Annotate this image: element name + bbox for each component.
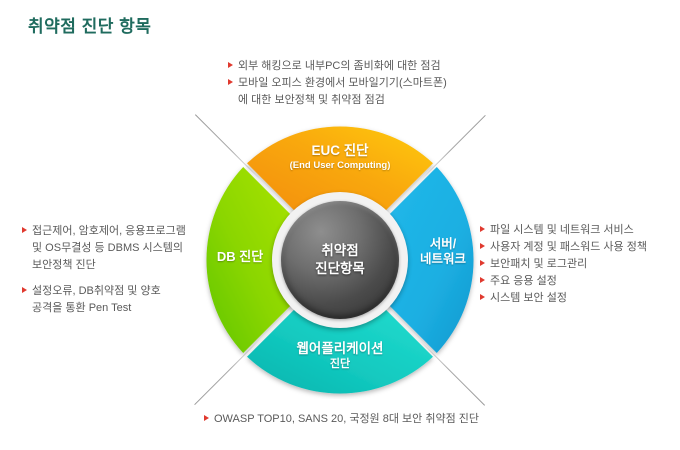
- list-item: 접근제어, 암호제어, 응용프로그램: [22, 223, 186, 239]
- arrow-bullet-icon: [480, 260, 485, 266]
- list-item-continuation: 및 OS무결성 등 DBMS 시스템의: [22, 240, 186, 256]
- hub-label-line2: 진단항목: [315, 260, 365, 278]
- list-item: 외부 해킹으로 내부PC의 좀비화에 대한 점검: [228, 58, 447, 74]
- list-item: 사용자 계정 및 패스워드 사용 정책: [480, 239, 647, 255]
- callout-web-application: OWASP TOP10, SANS 20, 국정원 8대 보안 취약점 진단: [204, 411, 479, 428]
- arrow-bullet-icon: [22, 287, 27, 293]
- donut-hub: 취약점 진단항목: [272, 192, 408, 328]
- arrow-bullet-icon: [480, 277, 485, 283]
- list-item-continuation: 보안정책 진단: [22, 257, 186, 273]
- list-item-text: 설정오류, DB취약점 및 양호: [32, 285, 161, 297]
- list-item-text: 주요 응용 설정: [490, 275, 557, 287]
- list-item-text: 접근제어, 암호제어, 응용프로그램: [32, 225, 186, 237]
- list-item: 시스템 보안 설정: [480, 290, 647, 306]
- arrow-bullet-icon: [22, 227, 27, 233]
- list-item: 모바일 오피스 환경에서 모바일기기(스마트폰): [228, 75, 447, 91]
- list-item-text: OWASP TOP10, SANS 20, 국정원 8대 보안 취약점 진단: [214, 413, 479, 425]
- donut-hub-inner: 취약점 진단항목: [281, 201, 399, 319]
- list-item-continuation: 공격을 통환 Pen Test: [22, 300, 186, 316]
- arrow-bullet-icon: [228, 62, 233, 68]
- list-item: 보안패치 및 로그관리: [480, 256, 647, 272]
- list-item-continuation: 에 대한 보안정책 및 취약점 점검: [228, 92, 447, 108]
- callout-euc-group-2: 모바일 오피스 환경에서 모바일기기(스마트폰) 에 대한 보안정책 및 취약점…: [228, 75, 447, 108]
- list-item-text: 시스템 보안 설정: [490, 292, 567, 304]
- list-item-text: 공격을 통환 Pen Test: [32, 302, 131, 314]
- list-item: 설정오류, DB취약점 및 양호: [22, 283, 186, 299]
- list-item: 주요 응용 설정: [480, 273, 647, 289]
- callout-server-network: 파일 시스템 및 네트워크 서비스 사용자 계정 및 패스워드 사용 정책 보안…: [480, 222, 647, 307]
- arrow-bullet-icon: [480, 294, 485, 300]
- callout-db-group-1: 접근제어, 암호제어, 응용프로그램 및 OS무결성 등 DBMS 시스템의 보…: [22, 223, 186, 273]
- list-item-text: 보안정책 진단: [32, 259, 96, 271]
- list-item-text: 보안패치 및 로그관리: [490, 258, 587, 270]
- vulnerability-donut-diagram: EUC 진단 (End User Computing) DB 진단 서버/ 네트…: [201, 121, 479, 399]
- callout-euc-group-1: 외부 해킹으로 내부PC의 좀비화에 대한 점검: [228, 58, 447, 74]
- arrow-bullet-icon: [204, 415, 209, 421]
- list-item: OWASP TOP10, SANS 20, 국정원 8대 보안 취약점 진단: [204, 411, 479, 427]
- list-item-text: 외부 해킹으로 내부PC의 좀비화에 대한 점검: [238, 60, 441, 72]
- list-item-text: 모바일 오피스 환경에서 모바일기기(스마트폰): [238, 77, 447, 89]
- arrow-bullet-icon: [480, 226, 485, 232]
- arrow-bullet-icon: [228, 79, 233, 85]
- callout-db-group-2: 설정오류, DB취약점 및 양호 공격을 통환 Pen Test: [22, 283, 186, 316]
- list-item: 파일 시스템 및 네트워크 서비스: [480, 222, 647, 238]
- callout-euc: 외부 해킹으로 내부PC의 좀비화에 대한 점검 모바일 오피스 환경에서 모바…: [228, 58, 447, 109]
- list-item-text: 파일 시스템 및 네트워크 서비스: [490, 224, 634, 236]
- hub-label-line1: 취약점: [321, 242, 358, 260]
- arrow-bullet-icon: [480, 243, 485, 249]
- list-item-text: 에 대한 보안정책 및 취약점 점검: [238, 94, 385, 106]
- page-title: 취약점 진단 항목: [28, 12, 151, 37]
- callout-db: 접근제어, 암호제어, 응용프로그램 및 OS무결성 등 DBMS 시스템의 보…: [22, 223, 186, 317]
- list-item-text: 사용자 계정 및 패스워드 사용 정책: [490, 241, 647, 253]
- list-item-text: 및 OS무결성 등 DBMS 시스템의: [32, 242, 183, 254]
